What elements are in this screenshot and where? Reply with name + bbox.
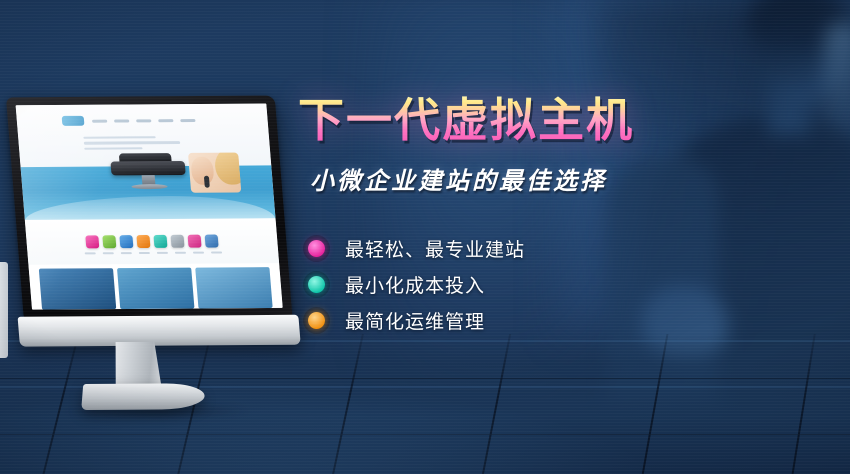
vignette-overlay xyxy=(0,0,850,474)
promo-banner: 下一代虚拟主机 小微企业建站的最佳选择 最轻松、最专业建站 最小化成本投入 最简… xyxy=(0,0,850,474)
